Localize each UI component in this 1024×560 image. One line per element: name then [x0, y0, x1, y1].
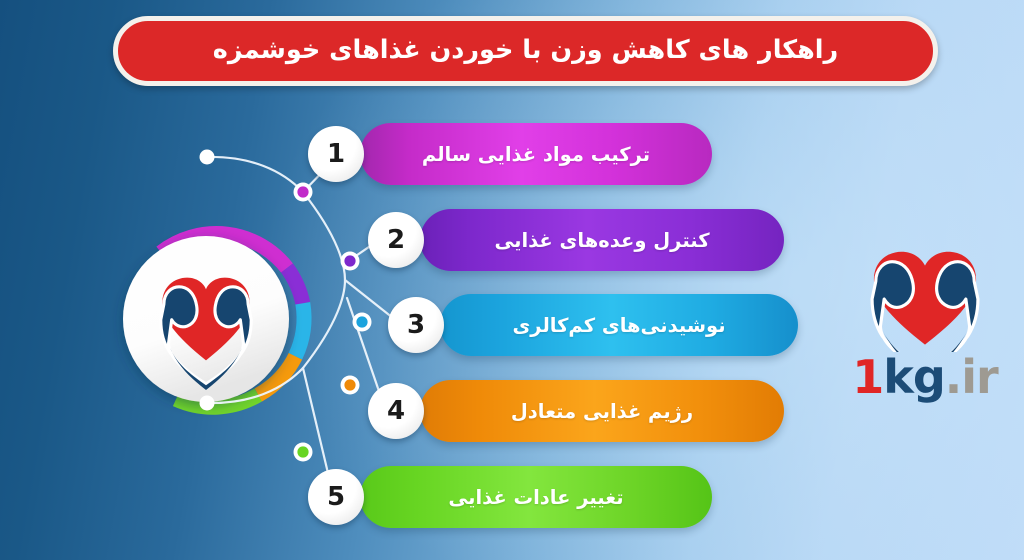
dot-step-2 [344, 255, 355, 266]
heart-muscle-logo-icon [864, 248, 986, 352]
step-row-3[interactable]: نوشیدنی‌های کم‌کالری 3 [440, 294, 798, 356]
step-row-1[interactable]: ترکیب مواد غذایی سالم 1 [360, 123, 712, 185]
brand-emblem [108, 215, 318, 425]
step-number-1[interactable]: 1 [308, 126, 364, 182]
step-label-1: ترکیب مواد غذایی سالم [388, 143, 684, 166]
title-banner: راهکار های کاهش وزن با خوردن غذاهای خوشم… [113, 16, 938, 86]
logo-part-kg: kg [883, 350, 945, 404]
dot-step-4 [344, 379, 355, 390]
site-logo[interactable]: 1kg.ir [845, 248, 1005, 398]
dot-step-3 [356, 316, 367, 327]
dot-step-5 [297, 446, 308, 457]
step-label-3: نوشیدنی‌های کم‌کالری [478, 314, 759, 337]
logo-part-ir: .ir [945, 350, 998, 404]
step-label-4: رژیم غذایی متعادل [477, 400, 727, 423]
step-pill-4[interactable]: رژیم غذایی متعادل [420, 380, 784, 442]
step-number-3[interactable]: 3 [388, 297, 444, 353]
step-pill-3[interactable]: نوشیدنی‌های کم‌کالری [440, 294, 798, 356]
step-label-2: کنترل وعده‌های غذایی [460, 229, 743, 252]
dot-step-1 [297, 186, 308, 197]
step-pill-2[interactable]: کنترل وعده‌های غذایی [420, 209, 784, 271]
page-title: راهکار های کاهش وزن با خوردن غذاهای خوشم… [197, 35, 854, 67]
step-label-5: تغییر عادات غذایی [414, 486, 657, 509]
logo-wordmark: 1kg.ir [845, 354, 1005, 400]
connector-endpoint-top [200, 150, 215, 165]
step-number-5[interactable]: 5 [308, 469, 364, 525]
title-bar: راهکار های کاهش وزن با خوردن غذاهای خوشم… [113, 16, 938, 86]
step-pill-1[interactable]: ترکیب مواد غذایی سالم [360, 123, 712, 185]
logo-part-1: 1 [852, 350, 883, 404]
infographic-canvas: راهکار های کاهش وزن با خوردن غذاهای خوشم… [0, 0, 1024, 560]
step-pill-5[interactable]: تغییر عادات غذایی [360, 466, 712, 528]
step-number-4[interactable]: 4 [368, 383, 424, 439]
step-number-2[interactable]: 2 [368, 212, 424, 268]
step-row-2[interactable]: کنترل وعده‌های غذایی 2 [420, 209, 784, 271]
step-row-5[interactable]: تغییر عادات غذایی 5 [360, 466, 712, 528]
step-row-4[interactable]: رژیم غذایی متعادل 4 [420, 380, 784, 442]
